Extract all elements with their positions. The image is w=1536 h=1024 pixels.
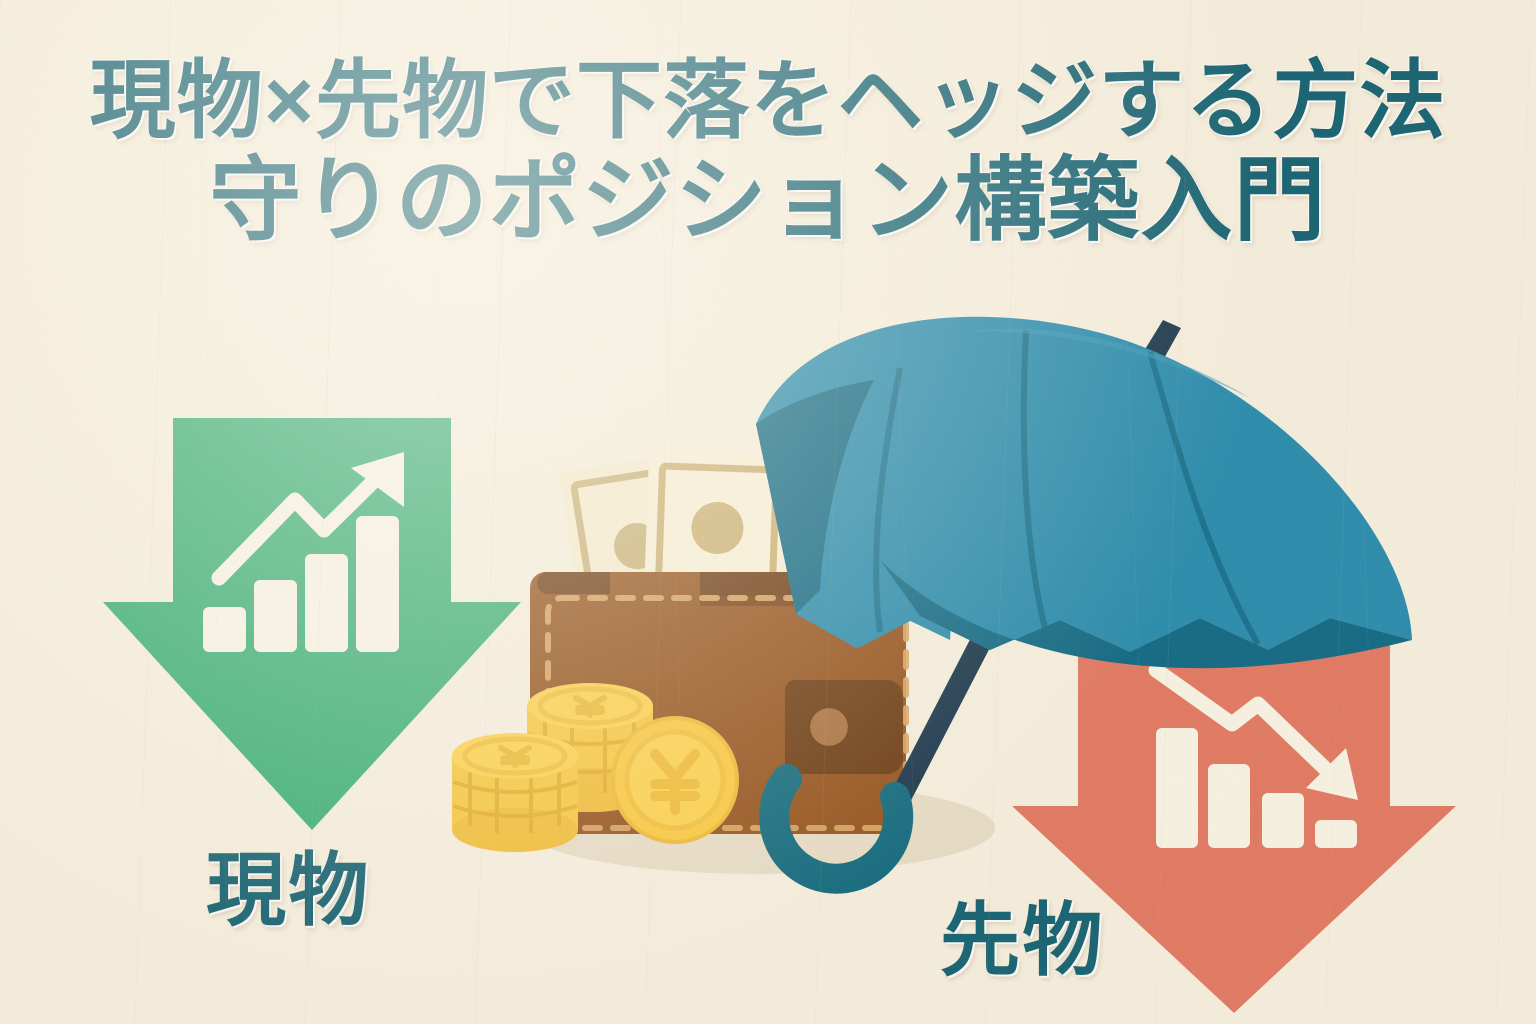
page-title: 現物×先物で下落をヘッジする方法 守りのポジション構築入門 [0, 56, 1536, 251]
label-futures: 先物 [940, 876, 1105, 992]
title-line-1: 現物×先物で下落をヘッジする方法 [0, 56, 1536, 147]
umbrella-icon [756, 317, 1412, 879]
title-line-2: 守りのポジション構築入門 [0, 153, 1536, 251]
umbrella-handle [774, 779, 898, 879]
label-spot: 現物 [206, 826, 371, 942]
poster-canvas: 現物×先物で下落をヘッジする方法 守りのポジション構築入門 現物 先物 [0, 0, 1536, 1024]
